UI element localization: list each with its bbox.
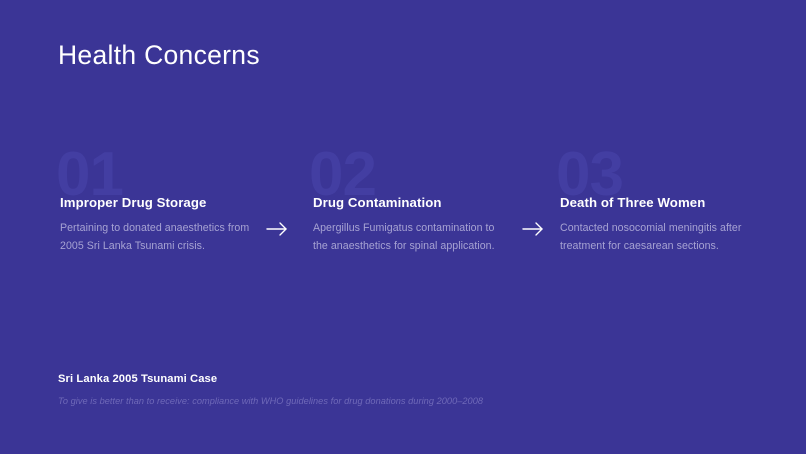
step-body-text: Pertaining to donated anaesthetics from … [60, 220, 256, 255]
step-item-3: 03 Death of Three Women Contacted nosoco… [560, 150, 756, 280]
step-body-text: Contacted nosocomial meningitis after tr… [560, 220, 756, 255]
footer-caption: To give is better than to receive: compl… [58, 394, 758, 408]
step-item-1: 01 Improper Drug Storage Pertaining to d… [60, 150, 256, 280]
steps-row: 01 Improper Drug Storage Pertaining to d… [0, 150, 806, 280]
slide-canvas: Health Concerns 01 Improper Drug Storage… [0, 0, 806, 454]
footer: Sri Lanka 2005 Tsunami Case To give is b… [58, 371, 758, 408]
step-item-2: 02 Drug Contamination Apergillus Fumigat… [313, 150, 509, 280]
step-headline: Improper Drug Storage [60, 194, 260, 212]
page-title: Health Concerns [58, 38, 260, 72]
footer-title: Sri Lanka 2005 Tsunami Case [58, 371, 758, 387]
arrow-right-icon [262, 214, 292, 244]
step-headline: Drug Contamination [313, 194, 513, 212]
arrow-right-icon [518, 214, 548, 244]
step-body-text: Apergillus Fumigatus contamination to th… [313, 220, 509, 255]
step-headline: Death of Three Women [560, 194, 760, 212]
